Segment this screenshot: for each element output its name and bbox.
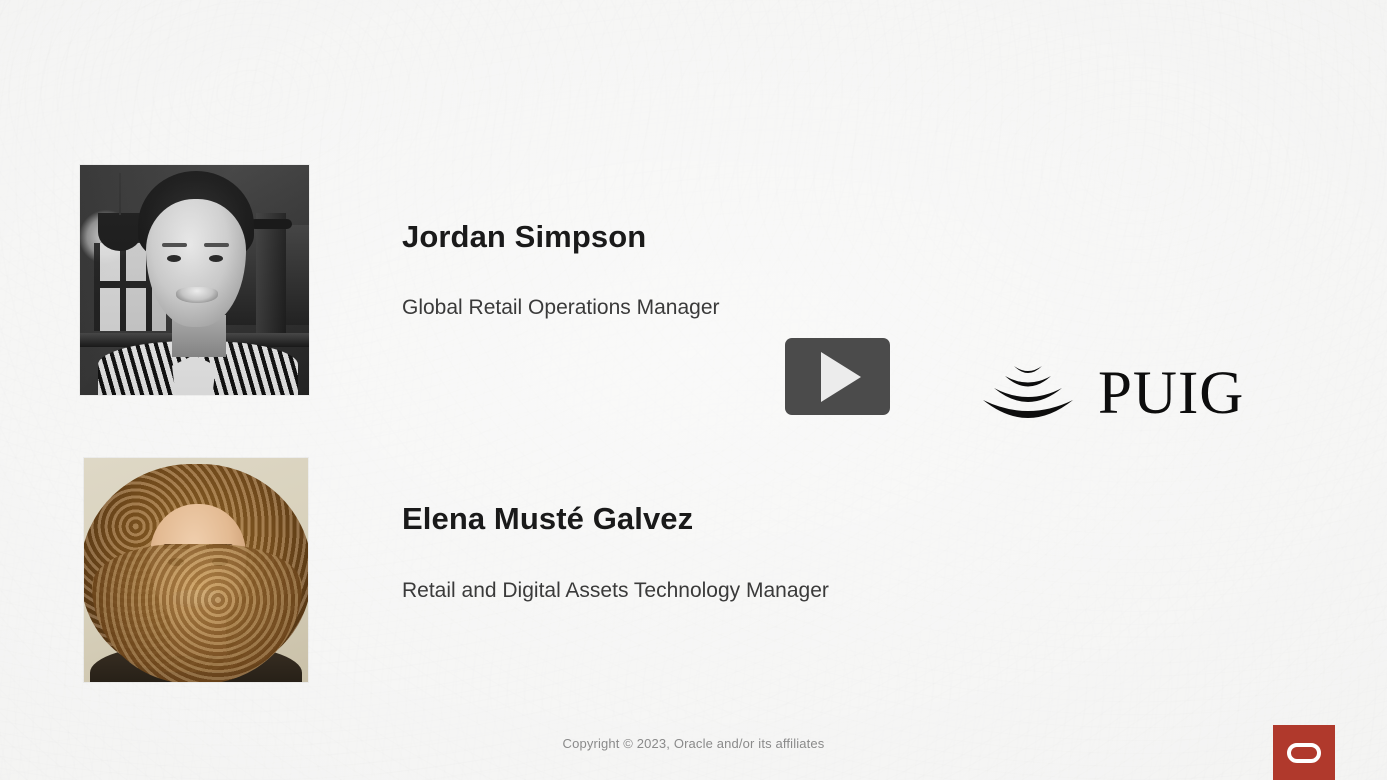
nested-arcs-icon bbox=[978, 362, 1078, 424]
photo-grade-overlay bbox=[80, 165, 309, 395]
play-triangle-icon bbox=[821, 352, 861, 402]
puig-wordmark: PUIG bbox=[1098, 363, 1244, 424]
speaker-name-elena: Elena Musté Galvez bbox=[402, 501, 693, 537]
speaker-photo-elena bbox=[84, 458, 308, 682]
speaker-title-elena: Retail and Digital Assets Technology Man… bbox=[402, 579, 829, 603]
puig-logo: PUIG bbox=[978, 360, 1283, 426]
play-button[interactable] bbox=[785, 338, 890, 415]
photo-background-jordan bbox=[80, 165, 309, 395]
oracle-logo-badge bbox=[1273, 725, 1335, 780]
oracle-o-icon bbox=[1287, 743, 1321, 763]
photo-background-elena bbox=[84, 458, 308, 682]
speaker-photo-jordan bbox=[80, 165, 309, 395]
speaker-title-jordan: Global Retail Operations Manager bbox=[402, 296, 720, 320]
presentation-slide: Jordan Simpson Global Retail Operations … bbox=[0, 0, 1387, 780]
speaker-name-jordan: Jordan Simpson bbox=[402, 219, 646, 255]
copyright-text: Copyright © 2023, Oracle and/or its affi… bbox=[0, 736, 1387, 751]
